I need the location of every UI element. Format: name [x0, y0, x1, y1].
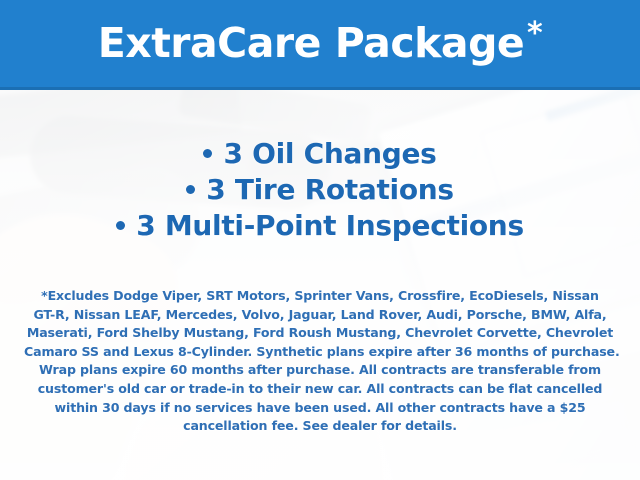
header-banner: ExtraCare Package*	[0, 0, 640, 90]
disclaimer-line: customer's old car or trade-in to their …	[24, 380, 616, 399]
asterisk-marker: *	[527, 19, 542, 49]
list-item-label: 3 Oil Changes	[223, 137, 436, 170]
list-item: 3 Multi-Point Inspections	[0, 208, 640, 244]
list-item: 3 Oil Changes	[0, 136, 640, 172]
disclaimer-line: within 30 days if no services have been …	[24, 399, 616, 418]
disclaimer-line: cancellation fee. See dealer for details…	[24, 417, 616, 436]
list-item-label: 3 Tire Rotations	[206, 173, 454, 206]
disclaimer-text: *Excludes Dodge Viper, SRT Motors, Sprin…	[24, 287, 616, 436]
disclaimer-line: Maserati, Ford Shelby Mustang, Ford Rous…	[24, 324, 616, 343]
list-item: 3 Tire Rotations	[0, 172, 640, 208]
disclaimer-line: GT-R, Nissan LEAF, Mercedes, Volvo, Jagu…	[24, 306, 616, 325]
extracare-package-ad: ExtraCare Package* 3 Oil Changes 3 Tire …	[0, 0, 640, 480]
benefits-list: 3 Oil Changes 3 Tire Rotations 3 Multi-P…	[0, 136, 640, 244]
bullet-dot-icon	[186, 185, 195, 194]
bullet-dot-icon	[203, 149, 212, 158]
page-title-text: ExtraCare Package	[98, 19, 525, 67]
disclaimer-line: *Excludes Dodge Viper, SRT Motors, Sprin…	[24, 287, 616, 306]
bullet-dot-icon	[116, 221, 125, 230]
list-item-label: 3 Multi-Point Inspections	[136, 209, 524, 242]
page-title: ExtraCare Package*	[98, 23, 543, 64]
blue-strip-shape	[545, 90, 640, 121]
disclaimer-line: Wrap plans expire 60 months after purcha…	[24, 361, 616, 380]
disclaimer-line: Camaro SS and Lexus 8-Cylinder. Syntheti…	[24, 343, 616, 362]
